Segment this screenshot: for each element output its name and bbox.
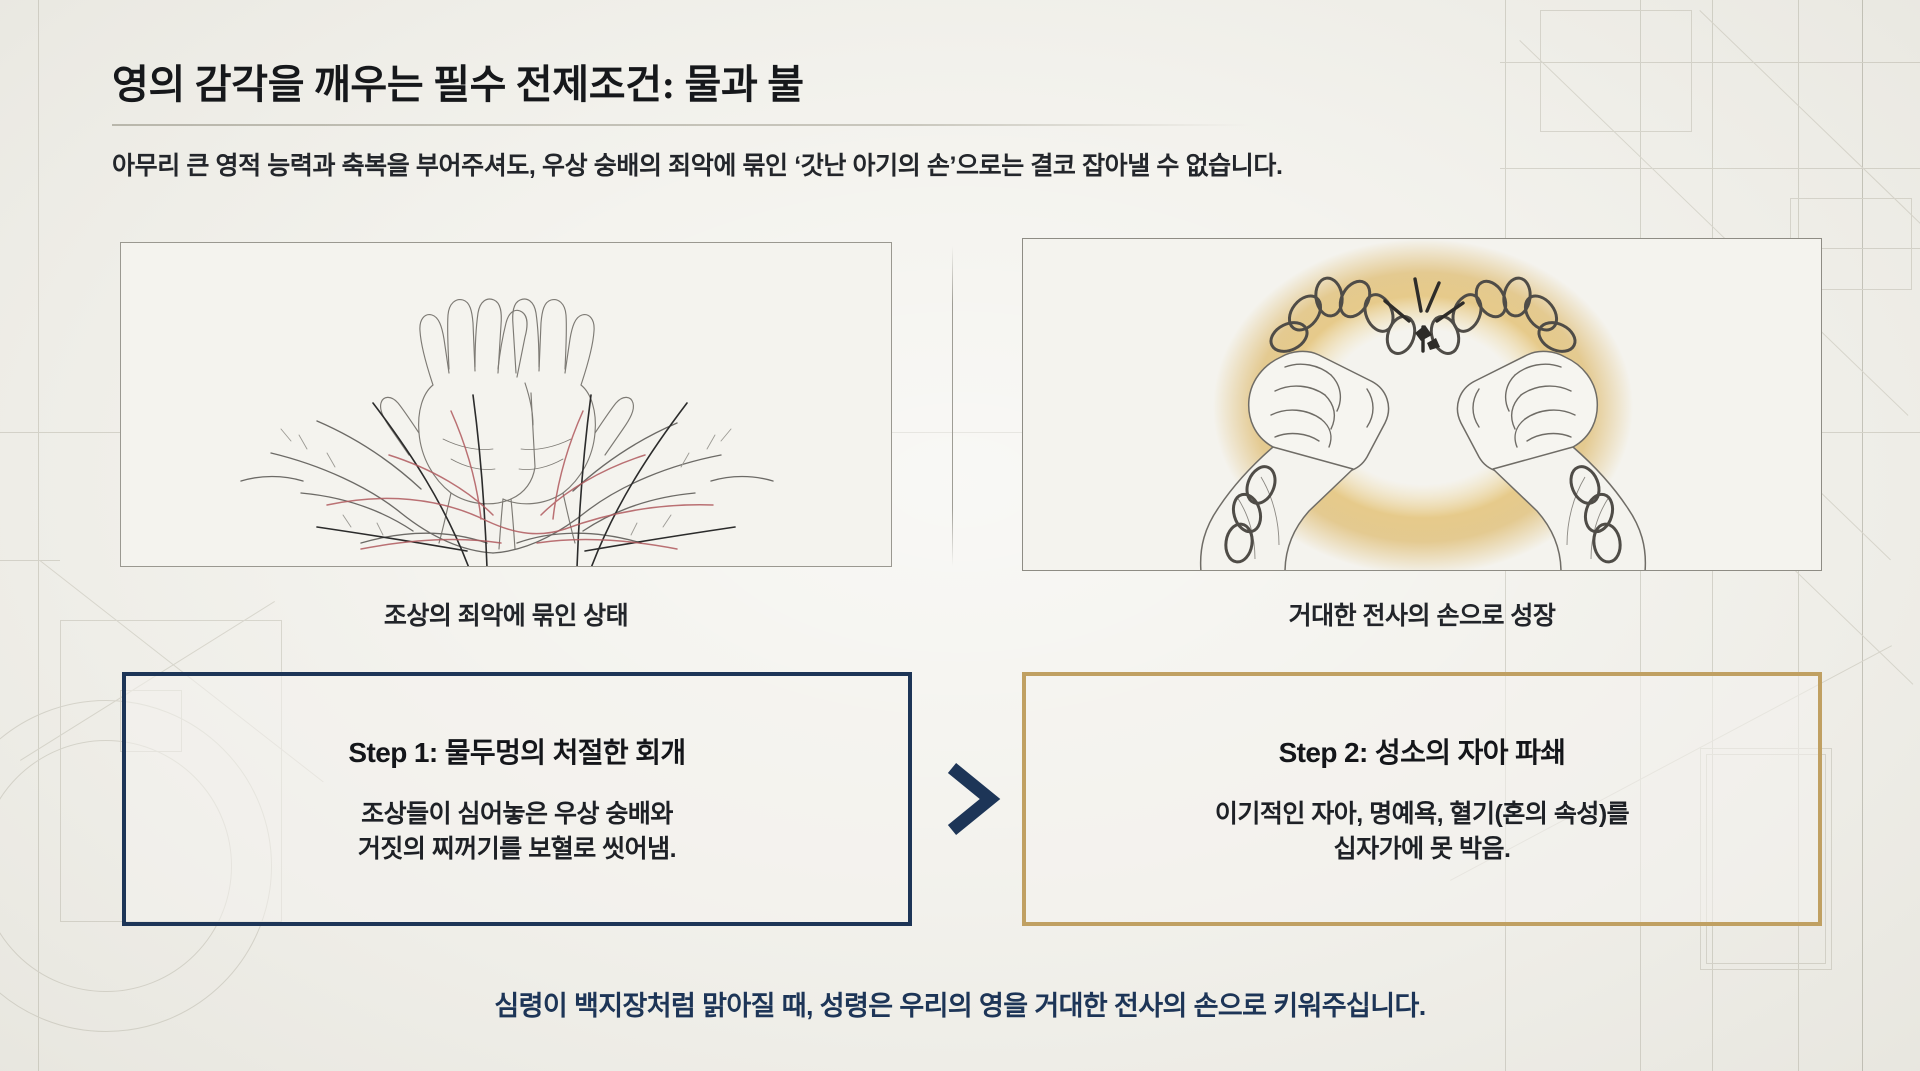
step-card-2[interactable]: Step 2: 성소의 자아 파쇄 이기적인 자아, 명예욕, 혈기(혼의 속성… [1022,672,1822,926]
step-2-title: Step 2: 성소의 자아 파쇄 [1279,731,1566,771]
header: 영의 감각을 깨우는 필수 전제조건: 물과 불 아무리 큰 영적 능력과 축복… [112,52,1812,182]
title-divider [112,124,1252,126]
slide-canvas: 영의 감각을 깨우는 필수 전제조건: 물과 불 아무리 큰 영적 능력과 축복… [0,0,1920,1071]
illustration-panel-left [120,242,892,567]
step-1-body-line-1: 조상들이 심어놓은 우상 숭배와 [358,797,676,833]
page-title: 영의 감각을 깨우는 필수 전제조건: 물과 불 [112,52,1812,110]
caption-left: 조상의 죄악에 묶인 상태 [120,596,892,632]
chevron-right-icon [938,762,1006,836]
step-2-body-line-1: 이기적인 자아, 명예욕, 혈기(혼의 속성)를 [1215,797,1629,833]
step-card-1[interactable]: Step 1: 물두멍의 처절한 회개 조상들이 심어놓은 우상 숭배와 거짓의… [122,672,912,926]
step-1-body: 조상들이 심어놓은 우상 숭배와 거짓의 찌꺼기를 보혈로 씻어냄. [358,797,676,868]
panel-frame-right [1022,238,1822,571]
bound-hands-with-thorn-vines-icon [121,243,892,567]
step-1-title: Step 1: 물두멍의 처절한 회개 [348,731,685,771]
panel-divider [952,246,953,566]
page-subtitle: 아무리 큰 영적 능력과 축복을 부어주셔도, 우상 숭배의 죄악에 묶인 ‘갓… [112,146,1812,182]
step-2-body-line-2: 십자가에 못 박음. [1215,832,1629,868]
fists-breaking-chain-with-golden-glow-icon [1023,239,1822,571]
conclusion-text: 심령이 백지장처럼 맑아질 때, 성령은 우리의 영을 거대한 전사의 손으로 … [0,984,1920,1023]
illustration-panel-right [1022,238,1822,571]
panel-frame-left [120,242,892,567]
caption-right: 거대한 전사의 손으로 성장 [1022,596,1822,632]
step-2-body: 이기적인 자아, 명예욕, 혈기(혼의 속성)를 십자가에 못 박음. [1215,797,1629,868]
step-1-body-line-2: 거짓의 찌꺼기를 보혈로 씻어냄. [358,832,676,868]
